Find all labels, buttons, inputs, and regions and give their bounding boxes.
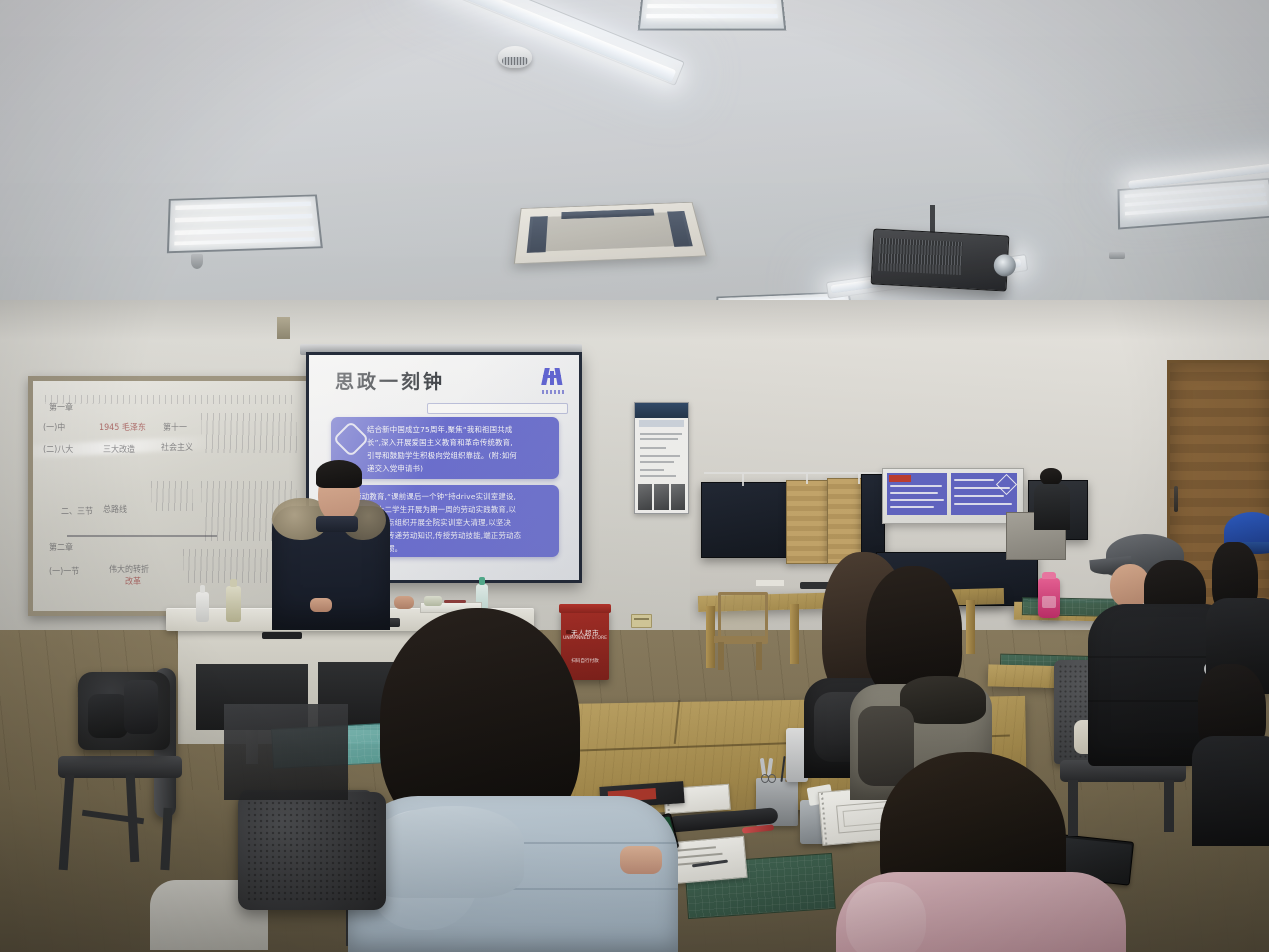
slide-progress-bar: [427, 403, 568, 414]
student-light-blue-jacket: [348, 608, 696, 952]
whiteboard-note: 总路线: [103, 505, 127, 516]
recessed-grid-light: [638, 0, 787, 30]
slide-block-line: 结合新中国成立75周年,聚焦“我和祖国共成: [367, 424, 512, 436]
door-handle[interactable]: [1174, 486, 1178, 512]
red-tag: [889, 475, 911, 482]
tissue-pack: [424, 596, 442, 606]
sprinkler-head-icon: [191, 254, 203, 269]
whiteboard-note: 二、三节: [61, 507, 93, 518]
classroom-photo: 第一章 1945 毛泽东 第十一 (一)中 (二)八大 三大改造 社会主义 二、…: [0, 0, 1269, 952]
slide-title: 思政一刻钟: [335, 367, 445, 394]
whiteboard-note: 第十一: [163, 423, 187, 434]
whiteboard-note: 改革: [125, 577, 141, 588]
board-panel-right: [951, 473, 1017, 515]
university-logo: [542, 368, 566, 394]
smoke-detector-icon: [498, 46, 532, 68]
floor-equipment: [224, 704, 348, 800]
screen-roller-bracket: [277, 317, 290, 339]
lecturer-collar: [316, 516, 358, 532]
thermos-bottle: [1038, 578, 1060, 618]
wall-display-board: [882, 468, 1024, 524]
whiteboard-note: (一)一节: [49, 567, 79, 578]
ceiling-projector: [871, 228, 1010, 291]
poster-subtitle: [639, 420, 684, 427]
hand-sanitizer-bottle: [196, 592, 209, 622]
air-conditioner-cassette: [514, 202, 707, 264]
sprinkler-head-icon: [1109, 252, 1125, 259]
poster-header: [635, 403, 688, 418]
chair-mesh: [246, 800, 378, 902]
recessed-grid-light: [167, 194, 323, 253]
pen: [444, 600, 466, 603]
backpack: [78, 672, 170, 750]
whiteboard-note: 第二章: [49, 543, 73, 554]
lecturer: [266, 440, 398, 630]
whiteboard-note: (一)中: [43, 423, 65, 434]
scissors-icon: [760, 758, 776, 782]
wall-notice-poster: [634, 402, 689, 514]
whiteboard-note: 伟大的转折: [109, 565, 149, 576]
student-pink-jacket: [836, 752, 1136, 952]
remote-control[interactable]: [262, 632, 302, 639]
board-panel-left: [887, 473, 947, 515]
whiteboard-note: 三大改造: [103, 445, 135, 456]
student-jacket: [1192, 736, 1269, 846]
poster-photos: [638, 484, 685, 510]
lotion-bottle: [226, 586, 241, 622]
whiteboard-note: 第一章: [49, 403, 73, 414]
whiteboard-note: (二)八大: [43, 445, 73, 456]
paper-on-desk: [756, 580, 784, 586]
whiteboard-note: 社会主义: [161, 443, 193, 454]
student-right-edge: [1198, 664, 1269, 840]
whiteboard-note: 1945 毛泽东: [99, 423, 146, 434]
student-hand: [620, 846, 662, 874]
lecturer-hair: [316, 460, 362, 488]
display-board-dark: [701, 482, 788, 558]
wood-chair[interactable]: [712, 592, 772, 670]
student-background: [1032, 468, 1074, 530]
lecturer-hand: [310, 598, 332, 612]
diamond-badge-icon: [996, 474, 1017, 495]
desk-leg: [790, 604, 799, 664]
